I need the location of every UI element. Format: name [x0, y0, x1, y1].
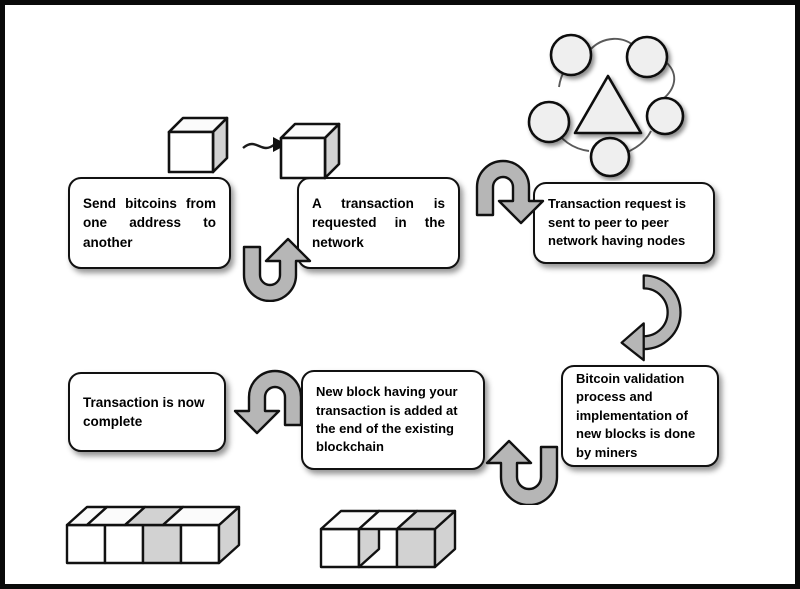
network-node: [551, 35, 591, 75]
flow-box-step-2[interactable]: A transaction is requested in the networ…: [297, 177, 460, 269]
cube-source-icon: [169, 118, 227, 172]
flow-box-step-3[interactable]: Transaction request is sent to peer to p…: [533, 182, 715, 264]
chain-cube: [181, 525, 219, 563]
flow-box-step-5[interactable]: New block having your transaction is add…: [301, 370, 485, 470]
connector-step3-to-step4: [607, 273, 702, 365]
step-6-label: Transaction is now complete: [70, 393, 224, 431]
cube-transfer-illustration: [165, 110, 345, 180]
flow-box-step-1[interactable]: Send bitcoins from one address to anothe…: [68, 177, 231, 269]
step-5-label: New block having your transaction is add…: [303, 383, 483, 457]
step-4-label: Bitcoin validation process and implement…: [563, 370, 717, 462]
peer-network-illustration: [517, 23, 717, 181]
step-1-label: Send bitcoins from one address to anothe…: [70, 194, 229, 251]
blockchain-three-illustration: [317, 507, 489, 573]
diagram-frame: Send bitcoins from one address to anothe…: [0, 0, 800, 589]
network-center-triangle-icon: [575, 76, 641, 133]
chain-cube: [67, 525, 105, 563]
flow-box-step-4[interactable]: Bitcoin validation process and implement…: [561, 365, 719, 467]
network-node: [647, 98, 683, 134]
chain-cube: [321, 529, 359, 567]
connector-step4-to-step5: [475, 425, 575, 505]
cube-target-icon: [281, 124, 339, 178]
network-node: [627, 37, 667, 77]
network-node: [529, 102, 569, 142]
chain-cube-shaded: [143, 525, 181, 563]
chain-cube: [105, 525, 143, 563]
step-2-label: A transaction is requested in the networ…: [299, 194, 458, 251]
network-node: [591, 138, 629, 176]
flow-box-step-6[interactable]: Transaction is now complete: [68, 372, 226, 452]
chain-cube-shaded: [397, 529, 435, 567]
step-3-label: Transaction request is sent to peer to p…: [535, 195, 713, 250]
blockchain-four-illustration: [63, 501, 263, 573]
